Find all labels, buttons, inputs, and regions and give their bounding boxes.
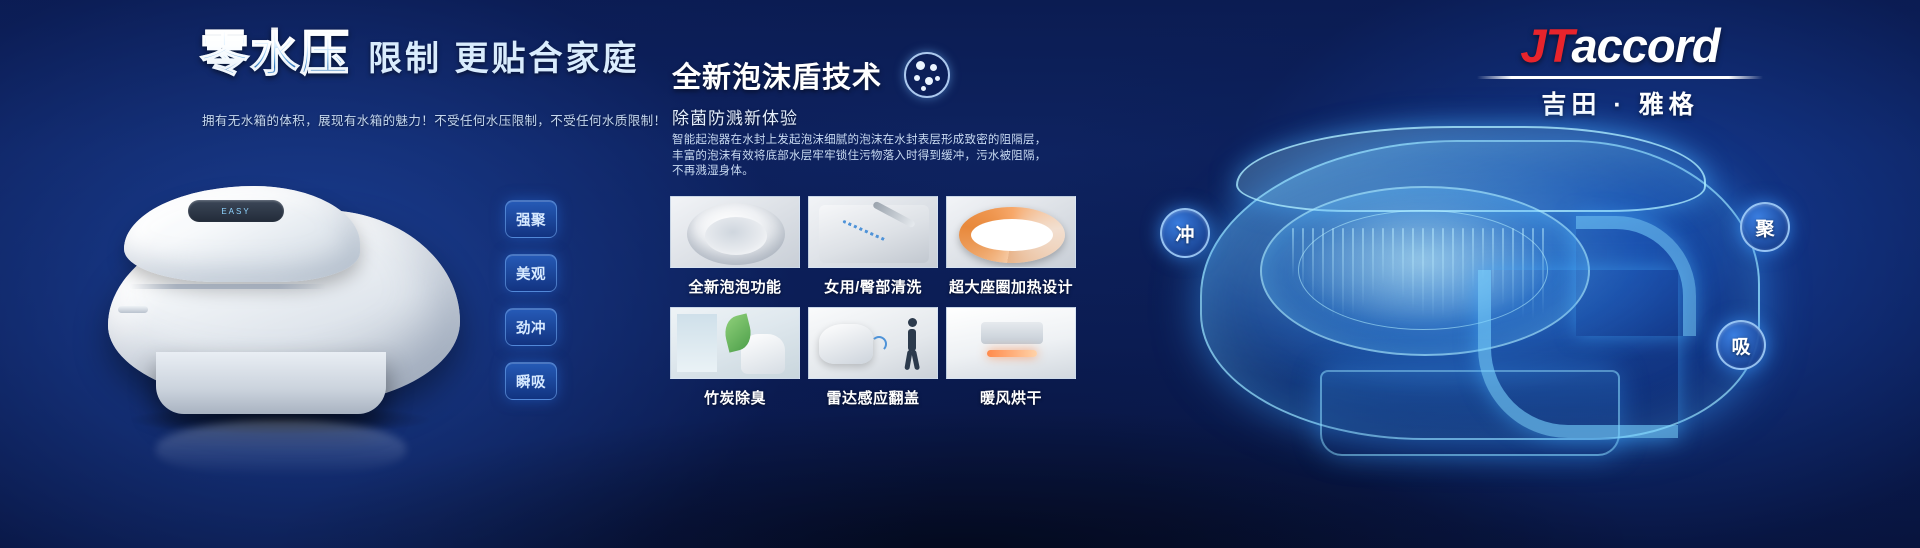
bubbles-icon bbox=[904, 52, 950, 98]
headline-main-text: 零水压 bbox=[200, 30, 350, 79]
feature-tag-2[interactable]: 劲冲 bbox=[505, 308, 557, 346]
bubbles-icon-ring bbox=[904, 52, 950, 98]
xray-badge-chong[interactable]: 冲 bbox=[1160, 208, 1210, 258]
toilet-product-photo: EASY bbox=[96, 138, 476, 438]
middle-panel: 全新泡沫盾技术 除菌防溅新体验 智能起泡器在水封上发起泡沫细腻的泡沫在水封表层形… bbox=[660, 0, 1110, 548]
left-description: 拥有无水箱的体积，展现有水箱的魅力！不受任何水压限制，不受任何水质限制！ bbox=[202, 110, 666, 129]
middle-title: 全新泡沫盾技术 bbox=[672, 54, 882, 96]
paragraph-line-0: 智能起泡器在水封上发起泡沫细腻的泡沫在水封表层形成致密的阻隔层， bbox=[672, 133, 1012, 149]
middle-subtitle: 除菌防溅新体验 bbox=[672, 104, 798, 129]
feature-tag-1[interactable]: 美观 bbox=[505, 254, 557, 292]
logo-accord-text: accord bbox=[1571, 19, 1719, 72]
feature-caption-3: 竹炭除臭 bbox=[670, 387, 800, 408]
feature-image-warm-dry bbox=[946, 307, 1076, 379]
left-headline: 零水压 限制 更贴合家庭 bbox=[200, 30, 639, 79]
logo-chinese-name: 吉田 · 雅格 bbox=[1460, 85, 1780, 121]
feature-tag-3[interactable]: 瞬吸 bbox=[505, 362, 557, 400]
paragraph-line-2: 不再溅湿身体。 bbox=[672, 164, 1012, 180]
xray-badge-ju[interactable]: 聚 bbox=[1740, 202, 1790, 252]
xray-badge-xi[interactable]: 吸 bbox=[1716, 320, 1766, 370]
toilet-control-panel: EASY bbox=[188, 200, 284, 222]
feature-cell-1[interactable]: 女用/臀部清洗 bbox=[808, 196, 938, 297]
feature-caption-2: 超大座圈加热设计 bbox=[946, 276, 1076, 297]
feature-tag-list: 强聚 美观 劲冲 瞬吸 bbox=[505, 200, 557, 400]
middle-title-row: 全新泡沫盾技术 bbox=[672, 52, 950, 98]
logo-divider bbox=[1477, 76, 1763, 79]
feature-cell-4[interactable]: 雷达感应翻盖 bbox=[808, 307, 938, 408]
feature-cell-5[interactable]: 暖风烘干 bbox=[946, 307, 1076, 408]
feature-caption-0: 全新泡泡功能 bbox=[670, 276, 800, 297]
toilet-base bbox=[156, 352, 386, 414]
product-banner: 零水压 限制 更贴合家庭 拥有无水箱的体积，展现有水箱的魅力！不受任何水压限制，… bbox=[0, 0, 1920, 548]
logo-jt-text: JT bbox=[1520, 19, 1571, 72]
feature-image-bowl bbox=[670, 196, 800, 268]
logo-wordmark: JTaccord bbox=[1520, 22, 1719, 69]
feature-image-heated-ring bbox=[946, 196, 1076, 268]
feature-grid: 全新泡泡功能 女用/臀部清洗 超大座圈加热设计 竹炭除臭 bbox=[670, 196, 1076, 408]
toilet-seam bbox=[130, 284, 326, 289]
middle-paragraph: 智能起泡器在水封上发起泡沫细腻的泡沫在水封表层形成致密的阻隔层， 丰富的泡沫有效… bbox=[672, 133, 1012, 180]
left-panel: 零水压 限制 更贴合家庭 拥有无水箱的体积，展现有水箱的魅力！不受任何水压限制，… bbox=[0, 0, 640, 548]
product-reflection bbox=[156, 420, 406, 476]
feature-image-spray bbox=[808, 196, 938, 268]
xray-toilet-diagram: 冲 聚 吸 bbox=[1140, 120, 1840, 520]
paragraph-line-1: 丰富的泡沫有效将底部水层牢牢锁住污物落入时得到缓冲，污水被阻隔， bbox=[672, 149, 1012, 165]
feature-image-radar bbox=[808, 307, 938, 379]
right-panel: JTaccord 吉田 · 雅格 冲 聚 吸 bbox=[1120, 0, 1920, 548]
feature-cell-0[interactable]: 全新泡泡功能 bbox=[670, 196, 800, 297]
control-panel-label: EASY bbox=[221, 207, 250, 216]
headline-sub-text: 限制 更贴合家庭 bbox=[368, 42, 639, 79]
feature-cell-2[interactable]: 超大座圈加热设计 bbox=[946, 196, 1076, 297]
feature-cell-3[interactable]: 竹炭除臭 bbox=[670, 307, 800, 408]
brand-logo: JTaccord 吉田 · 雅格 bbox=[1460, 22, 1780, 121]
toilet-side-button bbox=[118, 306, 148, 313]
feature-caption-1: 女用/臀部清洗 bbox=[808, 276, 938, 297]
feature-image-deodorize bbox=[670, 307, 800, 379]
feature-caption-4: 雷达感应翻盖 bbox=[808, 387, 938, 408]
feature-caption-5: 暖风烘干 bbox=[946, 387, 1076, 408]
feature-tag-0[interactable]: 强聚 bbox=[505, 200, 557, 238]
